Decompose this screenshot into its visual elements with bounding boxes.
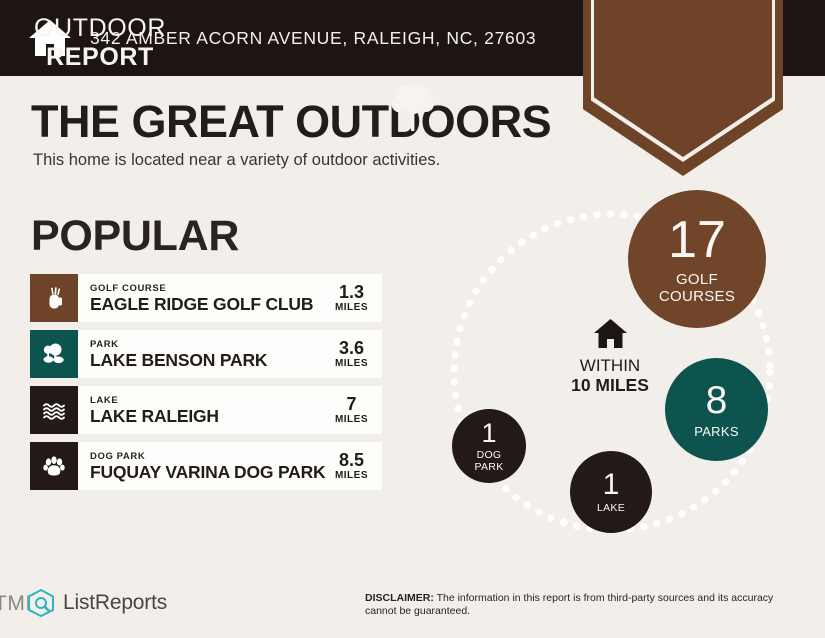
distance-unit: MILES	[335, 470, 368, 482]
stat-label: DOG PARK	[474, 449, 503, 473]
list-item-body: GOLF COURSE EAGLE RIDGE GOLF CLUB 1.3 MI…	[78, 274, 382, 322]
center-label-line2: 10 MILES	[550, 375, 670, 395]
list-item-name: FUQUAY VARINA DOG PARK	[90, 462, 331, 482]
center-label-line1: WITHIN	[550, 356, 670, 375]
disclaimer: DISCLAIMER: The information in this repo…	[365, 592, 790, 618]
park-trees-icon	[40, 340, 68, 368]
stat-count: 1	[481, 420, 496, 447]
stat-label: GOLF COURSES	[659, 271, 735, 305]
list-item-body: PARK LAKE BENSON PARK 3.6 MILES	[78, 330, 382, 378]
stat-count: 1	[603, 470, 620, 500]
distance-value: 8.5	[335, 451, 368, 470]
list-item-tile	[30, 274, 78, 322]
list-item-category: GOLF COURSE	[90, 283, 331, 294]
list-item-text: LAKE LAKE RALEIGH	[90, 395, 331, 426]
list-item-body: DOG PARK FUQUAY VARINA DOG PARK 8.5 MILE…	[78, 442, 382, 490]
stat-label: LAKE	[597, 502, 625, 514]
badge-inner	[594, 0, 772, 157]
list-item-tile	[30, 442, 78, 490]
distance-unit: MILES	[335, 414, 368, 426]
popular-section-title: POPULAR	[31, 212, 239, 261]
disclaimer-label: DISCLAIMER:	[365, 592, 434, 604]
stat-circle-lake: 1 LAKE	[570, 451, 652, 533]
golf-bag-icon	[40, 284, 68, 312]
list-item-text: DOG PARK FUQUAY VARINA DOG PARK	[90, 451, 331, 482]
list-item-body: LAKE LAKE RALEIGH 7 MILES	[78, 386, 382, 434]
stat-circle-golf-courses: 17 GOLF COURSES	[628, 190, 766, 328]
badge-title-line1: OUTDOOR	[0, 14, 200, 43]
list-item-distance: 7 MILES	[331, 395, 376, 426]
list-item-name: EAGLE RIDGE GOLF CLUB	[90, 294, 331, 314]
outdoor-infographic: WITHIN 10 MILES 17 GOLF COURSES 8 PARKS …	[400, 176, 825, 566]
stat-label-line2: PARK	[474, 461, 503, 473]
badge-title: OUTDOOR REPORT	[0, 14, 200, 72]
stat-label: PARKS	[694, 424, 739, 439]
list-item-text: PARK LAKE BENSON PARK	[90, 339, 331, 370]
listreports-logo-icon	[26, 588, 56, 618]
page-subtitle: This home is located near a variety of o…	[33, 151, 440, 170]
list-item[interactable]: GOLF COURSE EAGLE RIDGE GOLF CLUB 1.3 MI…	[30, 274, 382, 322]
distance-unit: MILES	[335, 302, 368, 314]
water-waves-icon	[40, 396, 68, 424]
badge-title-line2: REPORT	[0, 43, 200, 72]
listreports-brand[interactable]: ListReports	[26, 588, 167, 618]
tree-icon	[390, 80, 436, 132]
list-item-tile	[30, 386, 78, 434]
stat-label-line1: GOLF	[676, 271, 718, 288]
list-item-distance: 8.5 MILES	[331, 451, 376, 482]
list-item[interactable]: LAKE LAKE RALEIGH 7 MILES	[30, 386, 382, 434]
stat-circle-dog-park: 1 DOG PARK	[452, 409, 526, 483]
list-item-category: DOG PARK	[90, 451, 331, 462]
home-icon	[593, 318, 628, 350]
list-item-category: LAKE	[90, 395, 331, 406]
listreports-brand-name: ListReports	[63, 591, 167, 615]
page-title: THE GREAT OUTDOORS	[31, 96, 551, 148]
list-item-text: GOLF COURSE EAGLE RIDGE GOLF CLUB	[90, 283, 331, 314]
popular-list: GOLF COURSE EAGLE RIDGE GOLF CLUB 1.3 MI…	[30, 274, 382, 498]
list-item-distance: 3.6 MILES	[331, 339, 376, 370]
list-item-name: LAKE RALEIGH	[90, 406, 331, 426]
paw-print-icon	[40, 452, 68, 480]
list-item-tile	[30, 330, 78, 378]
distance-value: 7	[335, 395, 368, 414]
stat-count: 8	[706, 381, 728, 420]
list-item[interactable]: DOG PARK FUQUAY VARINA DOG PARK 8.5 MILE…	[30, 442, 382, 490]
list-item-distance: 1.3 MILES	[331, 283, 376, 314]
list-item-name: LAKE BENSON PARK	[90, 350, 331, 370]
distance-value: 1.3	[335, 283, 368, 302]
distance-unit: MILES	[335, 358, 368, 370]
outdoor-report-badge	[583, 0, 783, 176]
stat-label-line2: COURSES	[659, 288, 735, 305]
list-item-category: PARK	[90, 339, 331, 350]
list-item[interactable]: PARK LAKE BENSON PARK 3.6 MILES	[30, 330, 382, 378]
infographic-center: WITHIN 10 MILES	[550, 318, 670, 395]
stat-count: 17	[668, 214, 726, 266]
stat-circle-parks: 8 PARKS	[665, 358, 768, 461]
distance-value: 3.6	[335, 339, 368, 358]
stat-label-line1: DOG	[477, 449, 502, 461]
